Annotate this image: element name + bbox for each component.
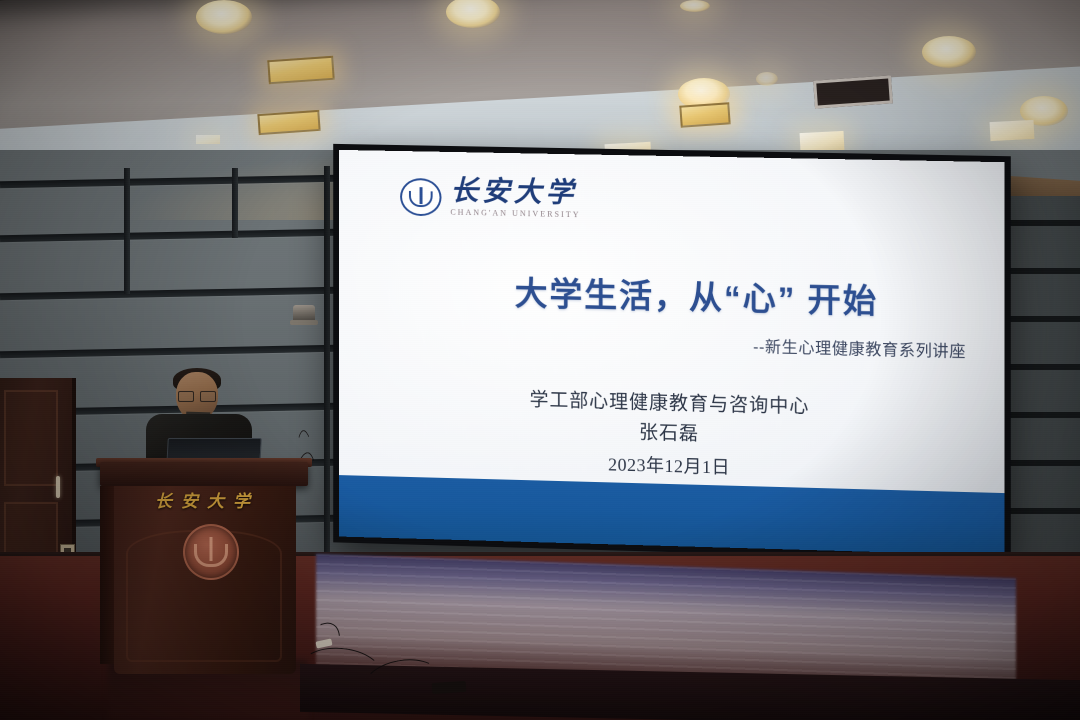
door-panel [4, 390, 58, 486]
slide-title: 大学生活，从“心” 开始 [515, 267, 987, 326]
podium-top [100, 462, 308, 486]
square-panel-light-icon [990, 120, 1035, 141]
ceiling-air-vent [813, 75, 893, 108]
square-panel-light-icon [196, 135, 220, 144]
logo-text-block: 长安大学 CHANG'AN UNIVERSITY [450, 178, 580, 219]
round-downlight-icon [680, 0, 710, 12]
recessed-warm-light-icon [679, 102, 730, 127]
lecture-hall-photo: 长安大学 CHANG'AN UNIVERSITY 大学生活，从“心” 开始 --… [0, 0, 1080, 720]
podium-inscription: 长安大学 [126, 487, 288, 512]
slide-logo: 长安大学 CHANG'AN UNIVERSITY [400, 177, 581, 219]
wall-mounted-speaker [293, 305, 315, 321]
logo-chinese-name: 长安大学 [450, 178, 580, 208]
logo-english-name: CHANG'AN UNIVERSITY [450, 209, 580, 220]
door-handle[interactable] [56, 476, 60, 498]
recessed-warm-light-icon [267, 56, 335, 85]
ceiling-smoke-detector-icon [756, 72, 778, 86]
changan-university-emblem-icon [400, 177, 441, 216]
podium-body [114, 486, 296, 674]
wall-panel-groove [324, 166, 330, 556]
round-downlight-icon [196, 0, 252, 34]
speaker-glasses [178, 391, 216, 400]
round-downlight-icon [922, 36, 976, 68]
power-adapter-on-floor [432, 681, 467, 694]
slide-subtitle: --新生心理健康教育系列讲座 [753, 333, 966, 362]
projection-screen[interactable]: 长安大学 CHANG'AN UNIVERSITY 大学生活，从“心” 开始 --… [339, 150, 1005, 556]
recessed-warm-light-icon [257, 110, 320, 135]
wall-panel-groove [124, 168, 130, 294]
wall-panel-groove [232, 168, 238, 238]
square-panel-light-icon [800, 131, 845, 152]
changan-university-seal-icon [183, 524, 239, 580]
